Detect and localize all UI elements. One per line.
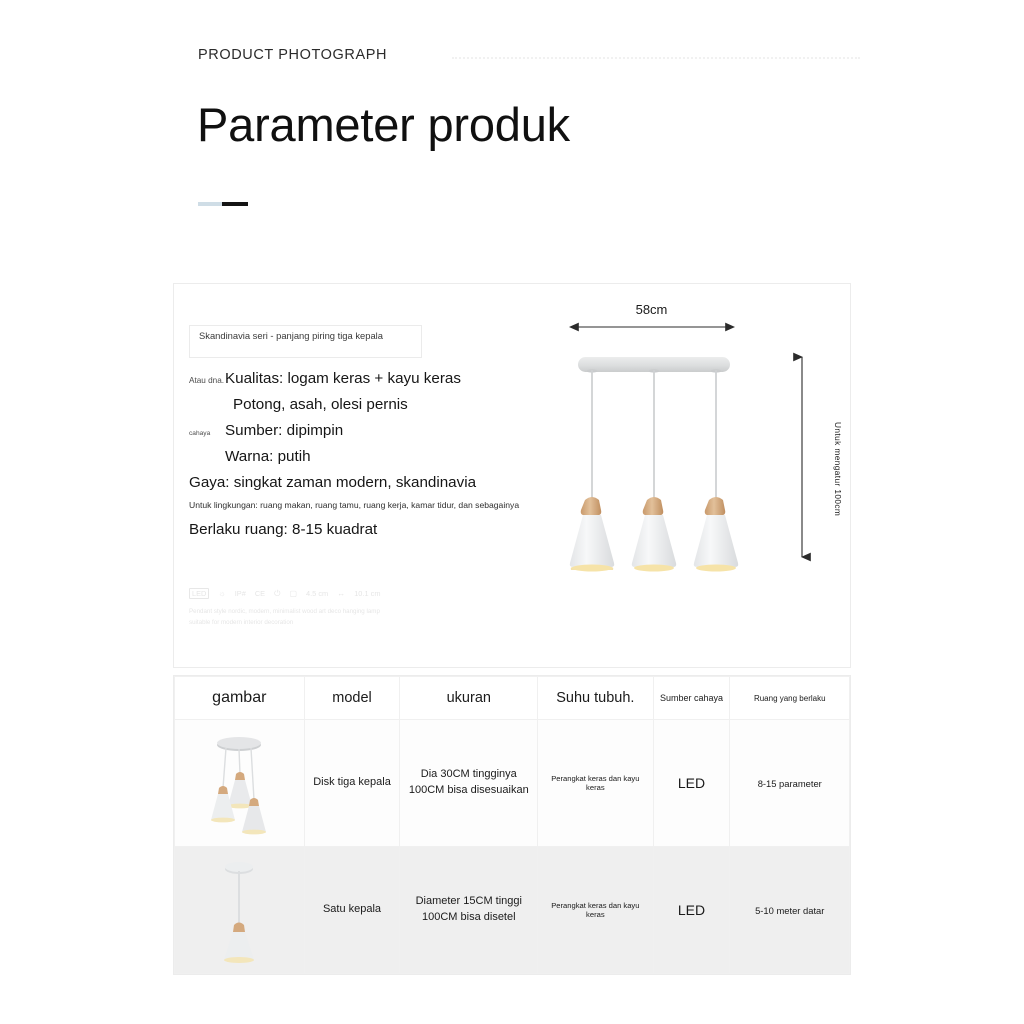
product-thumbnail-cell [175, 720, 305, 847]
size-line-1: Diameter 15CM tinggi [416, 895, 522, 907]
accent-rule [198, 202, 248, 206]
spec-row: cahaya Sumber: dipimpin [189, 422, 549, 439]
product-thumbnail-cell [175, 847, 305, 974]
spec-environment-line: Untuk lingkungan: ruang makan, ruang tam… [189, 500, 549, 510]
watermark-icon-row: LED ☼ IP# CE ⏻ ▢ 4.5 cm ↔ 10.1 cm [189, 588, 519, 599]
model-cell: Disk tiga kepala [304, 720, 400, 847]
watermark-fine-print-2: suitable for modern interior decoration [189, 617, 519, 628]
comparison-table-wrapper: gambar model ukuran Suhu tubuh. Sumber c… [173, 675, 851, 975]
disc-three-head-pendant-icon [196, 728, 282, 838]
bulb-icon: ☼ [218, 589, 225, 598]
spec-row: Atau dna. Kualitas: logam keras + kayu k… [189, 370, 549, 387]
header-dotted-rule [452, 57, 860, 61]
column-header-suhu-tubuh: Suhu tubuh. [538, 677, 653, 720]
column-header-ruang-yang-berlaku: Ruang yang berlaku [730, 677, 850, 720]
spec-side-label: cahaya [189, 430, 225, 438]
watermark-fine-print-1: Pendant style nordic, modern, minimalist… [189, 606, 519, 617]
spec-row: Potong, asah, olesi pernis [189, 396, 549, 413]
size-line-2: 100CM bisa disetel [422, 911, 516, 923]
spec-side-label: Atau dna. [189, 376, 225, 386]
spec-row-text: Kualitas: logam keras + kayu keras [225, 370, 461, 387]
led-badge-icon: LED [189, 588, 209, 599]
power-icon: ⏻ [274, 589, 280, 599]
spec-panel: Skandinavia seri - panjang piring tiga k… [173, 283, 851, 668]
accent-rule-dark-segment [222, 202, 249, 206]
spec-row-text: Potong, asah, olesi pernis [225, 396, 408, 413]
model-cell: Satu kepala [304, 847, 400, 974]
measure-height-value: 10.1 cm [354, 589, 380, 598]
material-cell: Perangkat keras dan kayu keras [538, 720, 653, 847]
ruler-icon: ↔ [337, 589, 345, 598]
light-source-cell: LED [653, 847, 730, 974]
spec-row-list: Atau dna. Kualitas: logam keras + kayu k… [189, 370, 549, 547]
room-cell: 8-15 parameter [730, 720, 850, 847]
series-name-box: Skandinavia seri - panjang piring tiga k… [189, 325, 422, 358]
spec-row-text: Warna: putih [225, 448, 311, 465]
room-cell: 5-10 meter datar [730, 847, 850, 974]
spec-style-line: Gaya: singkat zaman modern, skandinavia [189, 474, 549, 491]
measure-width-value: 4.5 cm [306, 589, 328, 598]
material-cell: Perangkat keras dan kayu keras [538, 847, 653, 974]
watermark-block: LED ☼ IP# CE ⏻ ▢ 4.5 cm ↔ 10.1 cm Pendan… [189, 588, 519, 629]
box-icon: ▢ [289, 589, 297, 598]
column-header-sumber-cahaya: Sumber cahaya [653, 677, 730, 720]
product-dimension-diagram: 58cm Untuk mengatur 100cm [564, 302, 839, 652]
page-title: Parameter produk [197, 97, 570, 152]
pendant-shade [694, 497, 738, 572]
comparison-table: gambar model ukuran Suhu tubuh. Sumber c… [174, 676, 850, 974]
table-row: Satu kepala Diameter 15CM tinggi 100CM b… [175, 847, 850, 974]
pendant-shade [632, 497, 676, 572]
light-source-cell: LED [653, 720, 730, 847]
size-cell: Diameter 15CM tinggi 100CM bisa disetel [400, 847, 538, 974]
accent-rule-light-segment [198, 202, 222, 206]
eyebrow-label: PRODUCT PHOTOGRAPH [198, 47, 387, 63]
size-cell: Dia 30CM tingginya 100CM bisa disesuaika… [400, 720, 538, 847]
table-header-row: gambar model ukuran Suhu tubuh. Sumber c… [175, 677, 850, 720]
single-head-pendant-icon [196, 855, 282, 965]
table-row: Disk tiga kepala Dia 30CM tingginya 100C… [175, 720, 850, 847]
pendant-lamp-illustration [564, 302, 839, 652]
ip-rating-icon: IP# [235, 589, 246, 598]
spec-row: Warna: putih [189, 448, 549, 465]
column-header-ukuran: ukuran [400, 677, 538, 720]
spec-row-text: Sumber: dipimpin [225, 422, 343, 439]
pendant-shade [570, 497, 614, 572]
size-line-2: 100CM bisa disesuaikan [409, 784, 529, 796]
column-header-model: model [304, 677, 400, 720]
ce-mark-icon: CE [255, 589, 265, 598]
spec-area-line: Berlaku ruang: 8-15 kuadrat [189, 521, 549, 538]
column-header-gambar: gambar [175, 677, 305, 720]
size-line-1: Dia 30CM tingginya [421, 768, 517, 780]
